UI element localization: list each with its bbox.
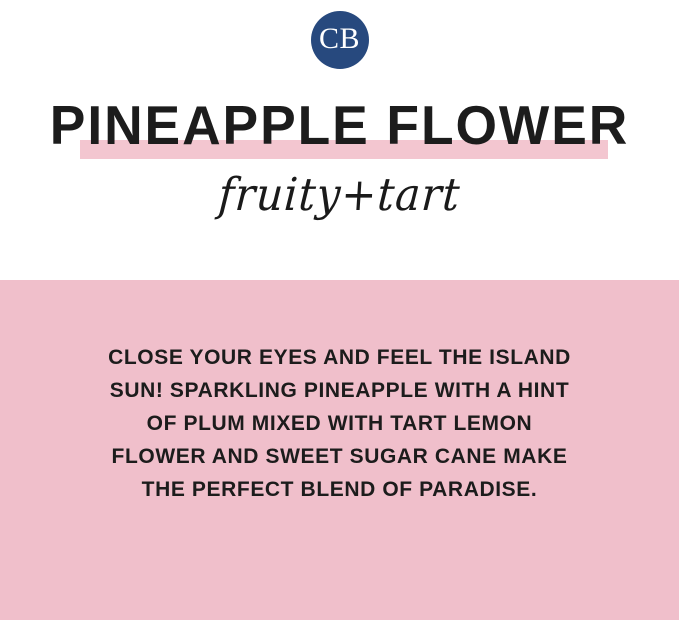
logo-initials: CB <box>319 24 360 56</box>
product-description-card: CB PINEAPPLE FLOWER fruity+tart CLOSE YO… <box>0 0 679 620</box>
header-section: CB PINEAPPLE FLOWER fruity+tart <box>0 0 679 280</box>
description-text: CLOSE YOUR EYES AND FEEL THE ISLAND SUN!… <box>0 341 679 506</box>
description-line: THE PERFECT BLEND OF PARADISE. <box>0 473 679 506</box>
product-title-block: PINEAPPLE FLOWER <box>0 96 679 166</box>
description-line: FLOWER AND SWEET SUGAR CANE MAKE <box>0 440 679 473</box>
description-line: SUN! SPARKLING PINEAPPLE WITH A HINT <box>0 374 679 407</box>
description-line: OF PLUM MIXED WITH TART LEMON <box>0 407 679 440</box>
description-panel: CLOSE YOUR EYES AND FEEL THE ISLAND SUN!… <box>0 280 679 620</box>
product-tagline: fruity+tart <box>0 164 679 227</box>
circle-monogram-logo-icon: CB <box>311 11 369 69</box>
page-title: PINEAPPLE FLOWER <box>10 96 669 154</box>
description-line: CLOSE YOUR EYES AND FEEL THE ISLAND <box>0 341 679 374</box>
brand-logo: CB <box>0 11 679 69</box>
